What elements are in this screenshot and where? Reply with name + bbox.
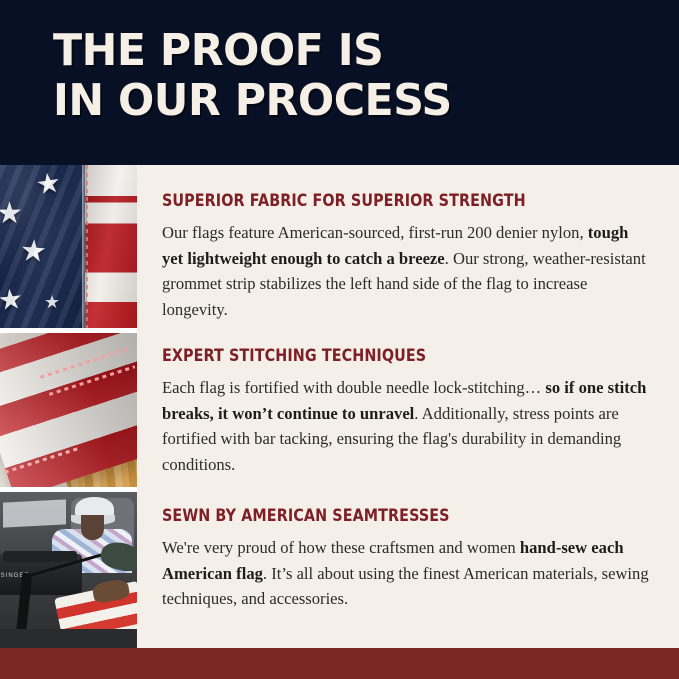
photo-column: ★ ★ ★ ★ ★	[0, 165, 137, 648]
page-title: THE PROOF IS IN OUR PROCESS	[53, 26, 635, 126]
sewing-machine-arm	[3, 551, 77, 562]
section-heading: SEWN BY AMERICAN SEAMTRESSES	[162, 506, 588, 526]
photo-flag-closeup: ★ ★ ★ ★ ★	[0, 165, 137, 328]
star-icon: ★	[34, 169, 63, 200]
photo-stitching-detail	[0, 333, 137, 487]
star-icon: ★	[0, 199, 23, 229]
section-heading: SUPERIOR FABRIC FOR SUPERIOR STRENGTH	[162, 191, 588, 211]
flag-closeup-art: ★ ★ ★ ★ ★	[0, 165, 137, 328]
photo-seamstress: SINGER	[0, 492, 137, 648]
star-icon: ★	[19, 236, 48, 268]
seamstress-art: SINGER	[0, 492, 137, 648]
content-column: SUPERIOR FABRIC FOR SUPERIOR STRENGTH Ou…	[137, 165, 679, 648]
star-icon: ★	[0, 286, 25, 316]
infographic-page: THE PROOF IS IN OUR PROCESS ★ ★ ★ ★ ★	[0, 0, 679, 679]
star-icon: ★	[44, 293, 60, 311]
header-banner: THE PROOF IS IN OUR PROCESS	[0, 0, 679, 165]
flag-stitch-line	[86, 165, 88, 328]
section-expert-stitching: EXPERT STITCHING TECHNIQUES Each flag is…	[162, 346, 652, 477]
section-body: Our flags feature American-sourced, firs…	[162, 220, 652, 322]
section-heading: EXPERT STITCHING TECHNIQUES	[162, 346, 588, 366]
section-superior-fabric: SUPERIOR FABRIC FOR SUPERIOR STRENGTH Ou…	[162, 191, 652, 322]
section-body: Each flag is fortified with double needl…	[162, 375, 652, 477]
workbench	[0, 629, 137, 648]
flag-union-field: ★ ★ ★ ★ ★	[0, 165, 85, 328]
background-table	[3, 500, 66, 528]
striped-fabric	[0, 333, 137, 487]
flag-stripes	[85, 165, 137, 328]
seamstress-face	[81, 515, 104, 540]
bottom-accent-bar	[0, 648, 679, 679]
section-body: We're very proud of how these craftsmen …	[162, 535, 652, 612]
stitching-detail-art	[0, 333, 137, 487]
section-sewn-by-american-seamstresses: SEWN BY AMERICAN SEAMTRESSES We're very …	[162, 506, 652, 612]
